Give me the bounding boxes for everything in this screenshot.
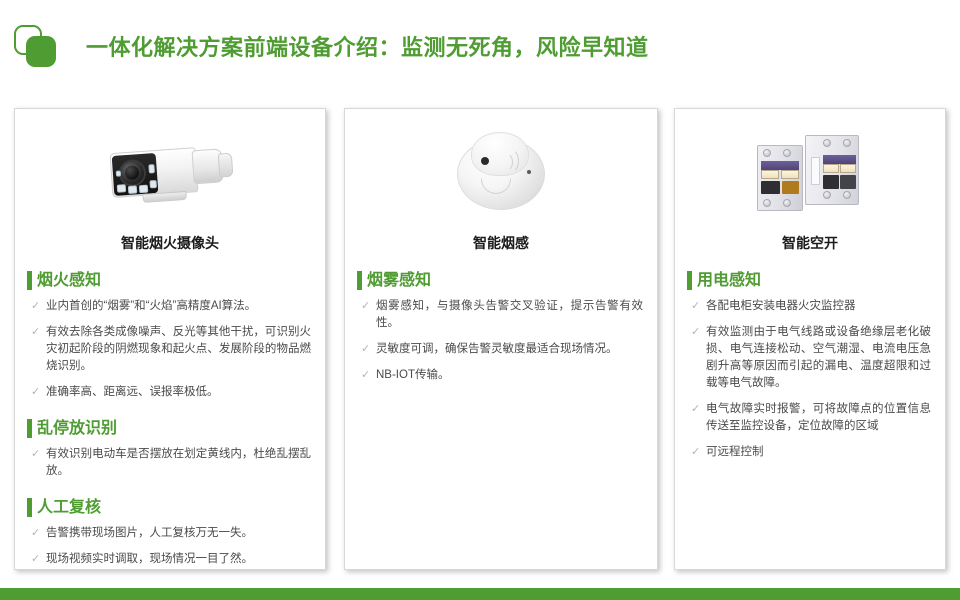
page-title: 一体化解决方案前端设备介绍：监测无死角，风险早知道: [86, 30, 649, 62]
list-item-text: 业内首创的“烟雾”和“火焰”高精度AI算法。: [46, 298, 311, 315]
check-icon: ✓: [31, 298, 46, 315]
camera-led-shape: [139, 185, 149, 194]
camera-led-shape: [149, 180, 157, 188]
check-icon: ✓: [691, 298, 706, 315]
breaker-window-shape: [761, 170, 779, 179]
breaker-screw-shape: [783, 149, 791, 157]
camera-led-shape: [148, 164, 155, 173]
section-accent-bar: [687, 271, 692, 290]
breaker-toggle-shape: [782, 181, 799, 194]
list-item: ✓ 业内首创的“烟雾”和“火焰”高精度AI算法。: [31, 298, 311, 315]
check-icon: ✓: [691, 324, 706, 341]
product-card-camera[interactable]: 智能烟火摄像头 烟火感知 ✓ 业内首创的“烟雾”和“火焰”高精度AI算法。 ✓ …: [14, 108, 326, 570]
check-icon: ✓: [31, 446, 46, 463]
section-heading: 烟雾感知: [345, 271, 657, 290]
breaker-screw-shape: [783, 199, 791, 207]
list-item-text: 电气故障实时报警，可将故障点的位置信息传送至监控设备，定位故障的区域: [706, 401, 931, 435]
breaker-window-shape: [840, 164, 856, 173]
smoke-detector-image: [345, 123, 657, 223]
breaker-window-shape: [781, 170, 799, 179]
breaker-toggle-shape: [761, 181, 780, 194]
camera-led-shape: [128, 185, 138, 194]
list-item: ✓ 可远程控制: [691, 444, 931, 461]
list-item: ✓ 准确率高、距离远、误报率极低。: [31, 384, 311, 401]
list-item-text: 有效监测由于电气线路或设备绝缘层老化破损、电气连接松动、空气潮湿、电流电压急剧升…: [706, 324, 931, 392]
check-icon: ✓: [31, 324, 46, 341]
section-accent-bar: [27, 419, 32, 438]
breaker-band-shape: [823, 155, 856, 164]
breaker-screw-shape: [843, 139, 851, 147]
list-item: ✓ 现场视频实时调取，现场情况一目了然。: [31, 551, 311, 568]
section-title: 乱停放识别: [37, 421, 117, 437]
product-card-row: 智能烟火摄像头 烟火感知 ✓ 业内首创的“烟雾”和“火焰”高精度AI算法。 ✓ …: [0, 108, 960, 570]
product-name-smoke-detector: 智能烟感: [345, 233, 657, 253]
list-item-text: 可远程控制: [706, 444, 931, 461]
check-icon: ✓: [691, 401, 706, 418]
bullet-list: ✓ 业内首创的“烟雾”和“火焰”高精度AI算法。 ✓ 有效去除各类成像噪声、反光…: [15, 298, 325, 401]
list-item-text: 各配电柜安装电器火灾监控器: [706, 298, 931, 315]
list-item: ✓ 各配电柜安装电器火灾监控器: [691, 298, 931, 315]
breaker-screw-shape: [823, 191, 831, 199]
check-icon: ✓: [691, 444, 706, 461]
check-icon: ✓: [361, 341, 376, 358]
check-icon: ✓: [361, 367, 376, 384]
circuit-breaker-image: [675, 123, 945, 223]
bullet-list: ✓ 烟雾感知，与摄像头告警交叉验证，提示告警有效性。 ✓ 灵敏度可调，确保告警灵…: [345, 298, 657, 384]
list-item: ✓ 告警携带现场图片，人工复核万无一失。: [31, 525, 311, 542]
footer-accent-bar: [0, 588, 960, 600]
section-title: 烟火感知: [37, 273, 101, 289]
detector-indicator-shape: [527, 170, 531, 174]
breaker-band-shape: [761, 161, 799, 170]
breaker-toggle-shape: [840, 175, 856, 189]
section-camera-1: 乱停放识别 ✓ 有效识别电动车是否摆放在划定黄线内，杜绝乱摆乱放。: [15, 419, 325, 480]
list-item-text: 灵敏度可调，确保告警灵敏度最适合现场情况。: [376, 341, 643, 358]
section-title: 烟雾感知: [367, 273, 431, 289]
camera-graphic: [103, 133, 238, 214]
list-item-text: 告警携带现场图片，人工复核万无一失。: [46, 525, 311, 542]
list-item-text: 准确率高、距离远、误报率极低。: [46, 384, 311, 401]
check-icon: ✓: [31, 384, 46, 401]
section-breaker-0: 用电感知 ✓ 各配电柜安装电器火灾监控器 ✓ 有效监测由于电气线路或设备绝缘层老…: [675, 271, 945, 461]
section-heading: 人工复核: [15, 498, 325, 517]
list-item-text: 有效去除各类成像噪声、反光等其他干扰，可识别火灾初起阶段的阴燃现象和起火点、发展…: [46, 324, 311, 375]
square-filled-shape: [26, 36, 56, 67]
list-item: ✓ 有效去除各类成像噪声、反光等其他干扰，可识别火灾初起阶段的阴燃现象和起火点、…: [31, 324, 311, 375]
list-item: ✓ NB-IOT传输。: [361, 367, 643, 384]
section-camera-0: 烟火感知 ✓ 业内首创的“烟雾”和“火焰”高精度AI算法。 ✓ 有效去除各类成像…: [15, 271, 325, 401]
breaker-toggle-shape: [823, 175, 839, 189]
section-smoke-0: 烟雾感知 ✓ 烟雾感知，与摄像头告警交叉验证，提示告警有效性。 ✓ 灵敏度可调，…: [345, 271, 657, 384]
circuit-breaker-graphic: [751, 131, 869, 215]
breaker-screw-shape: [763, 149, 771, 157]
section-heading: 烟火感知: [15, 271, 325, 290]
list-item: ✓ 烟雾感知，与摄像头告警交叉验证，提示告警有效性。: [361, 298, 643, 332]
list-item: ✓ 有效识别电动车是否摆放在划定黄线内，杜绝乱摆乱放。: [31, 446, 311, 480]
breaker-window-shape: [823, 164, 839, 173]
smoke-detector-graphic: [455, 130, 547, 216]
section-heading: 乱停放识别: [15, 419, 325, 438]
page-header: 一体化解决方案前端设备介绍：监测无死角，风险早知道: [0, 0, 960, 92]
breaker-screw-shape: [823, 139, 831, 147]
list-item: ✓ 电气故障实时报警，可将故障点的位置信息传送至监控设备，定位故障的区域: [691, 401, 931, 435]
bullet-list: ✓ 告警携带现场图片，人工复核万无一失。 ✓ 现场视频实时调取，现场情况一目了然…: [15, 525, 325, 568]
camera-led-shape: [116, 170, 121, 176]
stacked-squares-icon: [12, 23, 60, 69]
check-icon: ✓: [361, 298, 376, 315]
product-name-circuit-breaker: 智能空开: [675, 233, 945, 253]
product-card-smoke-detector[interactable]: 智能烟感 烟雾感知 ✓ 烟雾感知，与摄像头告警交叉验证，提示告警有效性。 ✓ 灵…: [344, 108, 658, 570]
list-item-text: NB-IOT传输。: [376, 367, 643, 384]
breaker-screw-shape: [843, 191, 851, 199]
list-item-text: 有效识别电动车是否摆放在划定黄线内，杜绝乱摆乱放。: [46, 446, 311, 480]
section-title: 人工复核: [37, 500, 101, 516]
section-accent-bar: [27, 271, 32, 290]
camera-led-shape: [117, 184, 127, 193]
section-accent-bar: [27, 498, 32, 517]
list-item: ✓ 有效监测由于电气线路或设备绝缘层老化破损、电气连接松动、空气潮湿、电流电压急…: [691, 324, 931, 392]
breaker-label-shape: [811, 157, 820, 185]
section-camera-2: 人工复核 ✓ 告警携带现场图片，人工复核万无一失。 ✓ 现场视频实时调取，现场情…: [15, 498, 325, 568]
breaker-screw-shape: [763, 199, 771, 207]
section-heading: 用电感知: [675, 271, 945, 290]
bullet-list: ✓ 有效识别电动车是否摆放在划定黄线内，杜绝乱摆乱放。: [15, 446, 325, 480]
camera-mount-shape: [142, 191, 187, 203]
list-item-text: 现场视频实时调取，现场情况一目了然。: [46, 551, 311, 568]
bullet-camera-image: [15, 123, 325, 223]
product-card-circuit-breaker[interactable]: 智能空开 用电感知 ✓ 各配电柜安装电器火灾监控器 ✓ 有效监测由于电气线路或设…: [674, 108, 946, 570]
detector-vent-shape: [495, 152, 513, 172]
section-title: 用电感知: [697, 273, 761, 289]
detector-sensor-hole-shape: [481, 157, 489, 165]
section-accent-bar: [357, 271, 362, 290]
bullet-list: ✓ 各配电柜安装电器火灾监控器 ✓ 有效监测由于电气线路或设备绝缘层老化破损、电…: [675, 298, 945, 461]
product-name-camera: 智能烟火摄像头: [15, 233, 325, 253]
list-item-text: 烟雾感知，与摄像头告警交叉验证，提示告警有效性。: [376, 298, 643, 332]
check-icon: ✓: [31, 525, 46, 542]
check-icon: ✓: [31, 551, 46, 568]
list-item: ✓ 灵敏度可调，确保告警灵敏度最适合现场情况。: [361, 341, 643, 358]
camera-tail-shape: [218, 153, 234, 178]
